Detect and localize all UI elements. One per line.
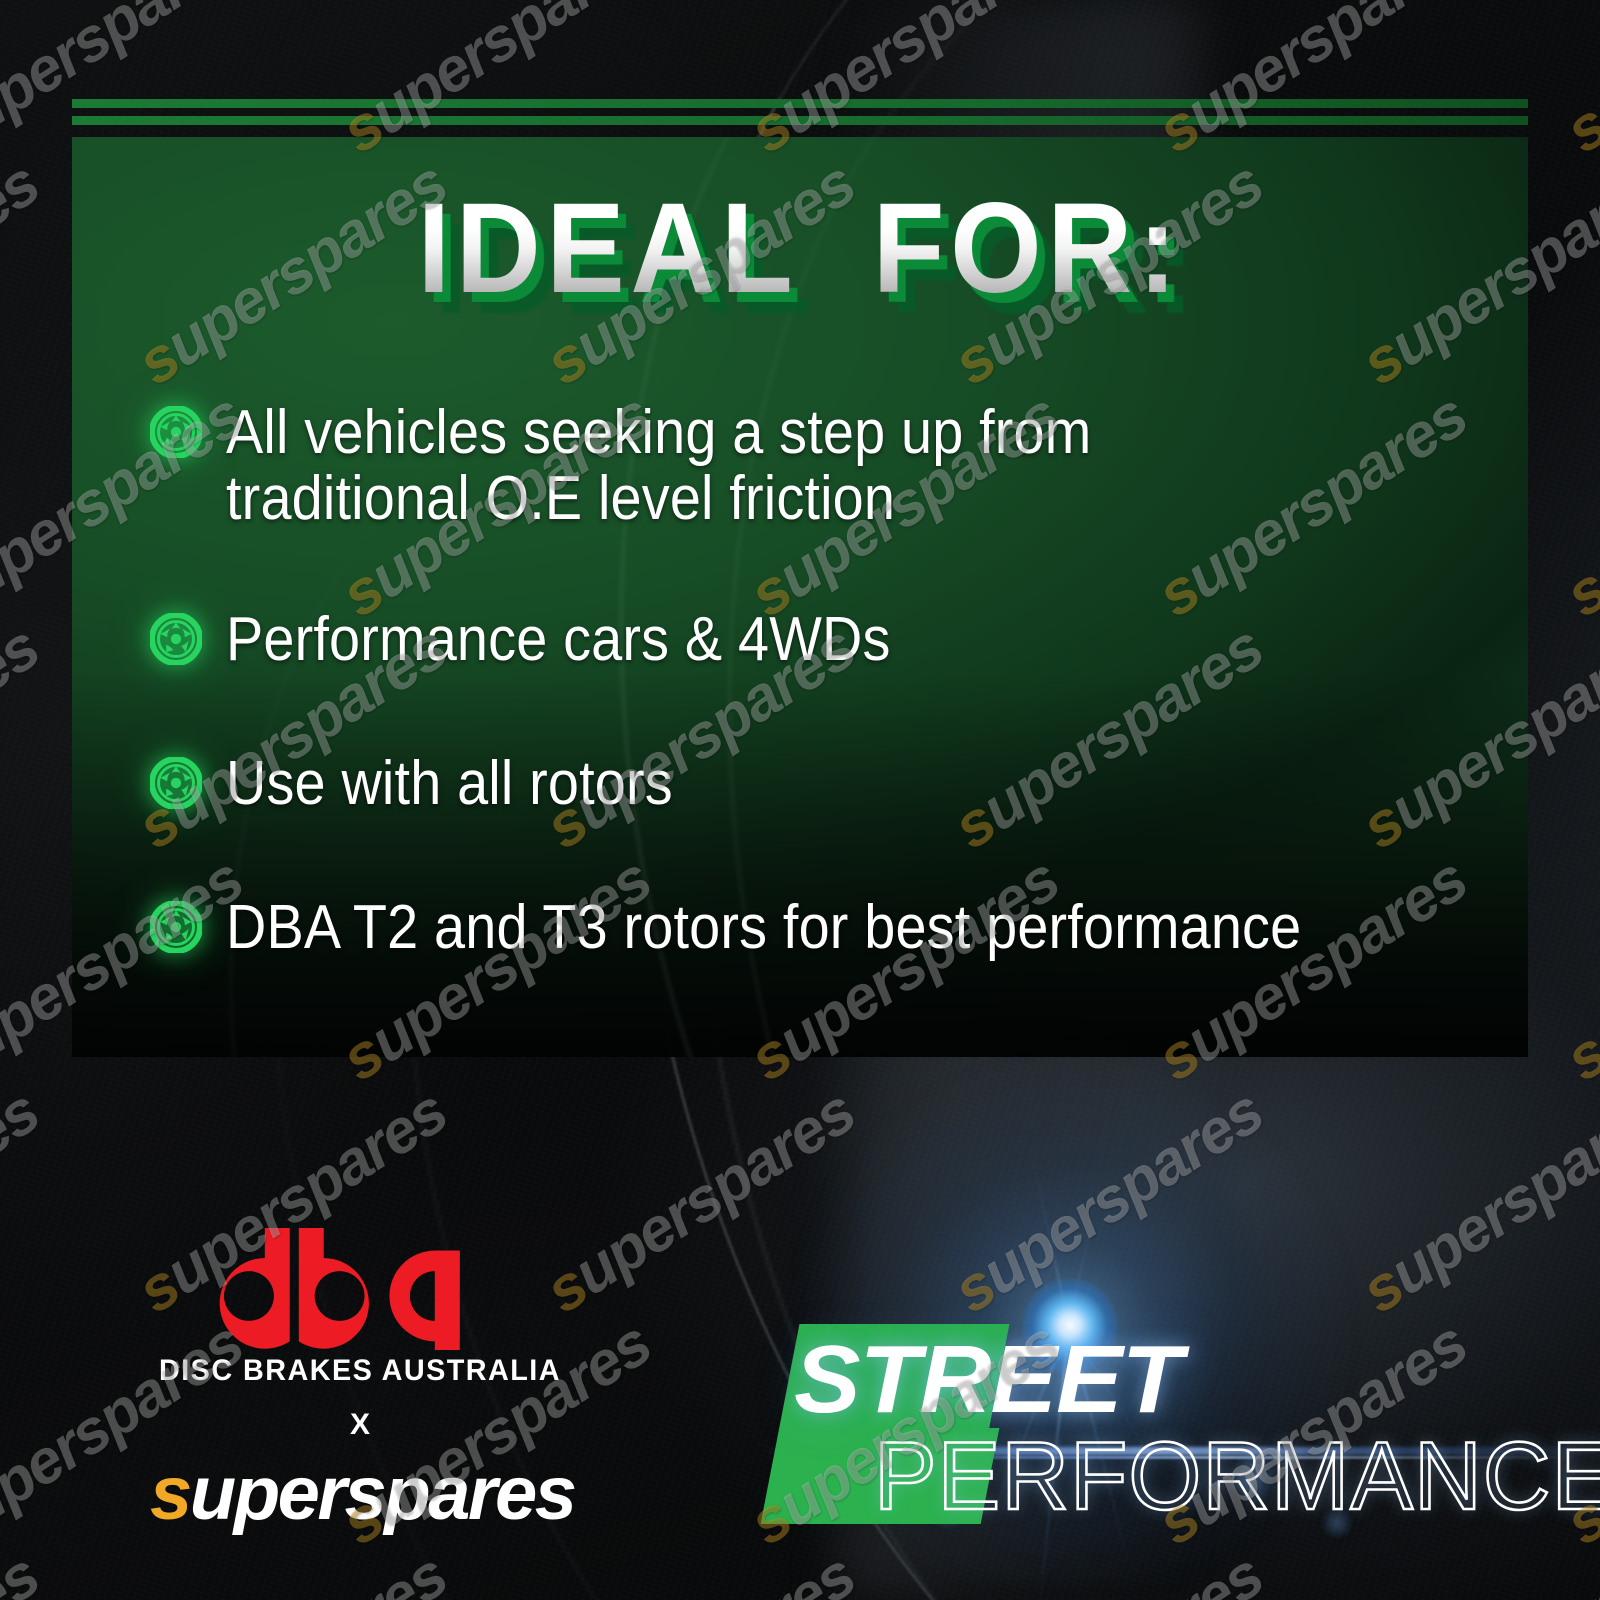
street-performance-logo: STREET PERFORMANCE xyxy=(780,1318,1580,1548)
list-item-label: DBA T2 and T3 rotors for best performanc… xyxy=(226,895,1301,961)
feature-list: All vehicles seeking a step up fromtradi… xyxy=(150,400,1550,962)
wheel-icon xyxy=(150,901,202,953)
list-item-label: Performance cars & 4WDs xyxy=(226,607,891,673)
superspares-logo-initial: s xyxy=(150,1451,190,1536)
dba-logo-icon xyxy=(190,1228,530,1350)
dba-superspares-lockup: DISC BRAKES AUSTRALIA X superspares xyxy=(150,1228,570,1532)
list-item-label: All vehicles seeking a step up fromtradi… xyxy=(226,400,1091,533)
street-performance-line1: STREET xyxy=(794,1332,1182,1428)
superspares-logo: superspares xyxy=(150,1456,570,1532)
product-infographic-canvas: IDEAL FOR: All vehicles seeking a step u… xyxy=(0,0,1600,1600)
list-item: Performance cars & 4WDs xyxy=(150,607,1550,673)
accent-stripe-second xyxy=(72,116,1528,125)
list-item: Use with all rotors xyxy=(150,751,1550,817)
list-item: DBA T2 and T3 rotors for best performanc… xyxy=(150,895,1550,961)
superspares-logo-rest: uperspares xyxy=(190,1451,575,1536)
list-item-label: Use with all rotors xyxy=(226,751,673,817)
street-performance-line2: PERFORMANCE xyxy=(874,1428,1600,1525)
wheel-icon xyxy=(150,613,202,665)
collab-separator: X xyxy=(150,1408,570,1442)
wheel-icon xyxy=(150,757,202,809)
wheel-icon xyxy=(150,406,202,458)
page-title: IDEAL FOR: xyxy=(130,185,1470,313)
accent-stripe-top xyxy=(72,99,1528,108)
list-item: All vehicles seeking a step up fromtradi… xyxy=(150,400,1550,533)
dba-logo-subtitle: DISC BRAKES AUSTRALIA xyxy=(158,1354,561,1388)
